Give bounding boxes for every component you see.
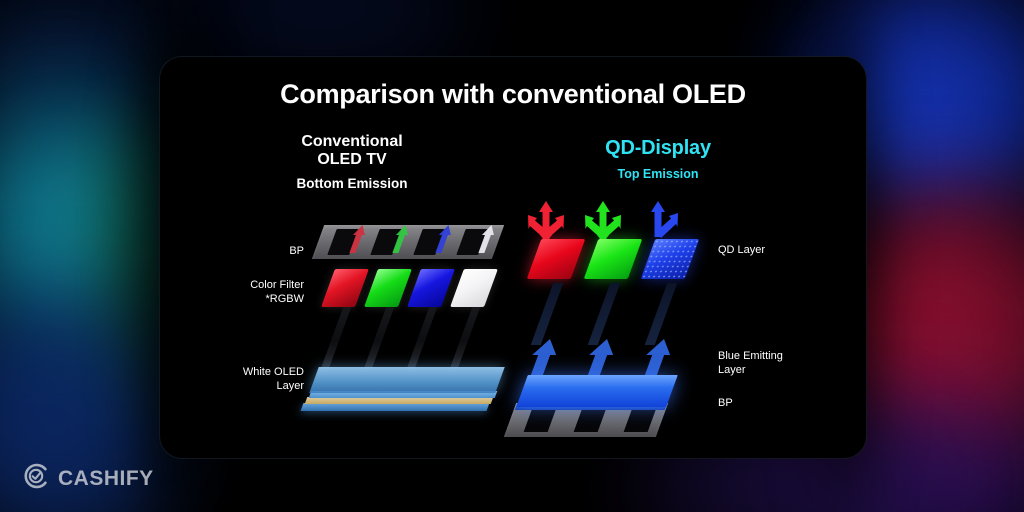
bp-emission-arrows-left (310, 221, 510, 261)
label-bp-right: BP (718, 397, 858, 411)
light-beam (321, 307, 352, 369)
qd-display-diagram (520, 197, 710, 452)
color-filter-green (364, 269, 412, 307)
label-color-filter-line1: Color Filter (250, 279, 304, 291)
light-beam (364, 307, 395, 369)
label-bp-left: BP (184, 245, 304, 259)
white-oled-gold-layer (305, 397, 494, 404)
conventional-heading-line1: Conventional (301, 133, 402, 150)
qd-display-subheading: Top Emission (518, 167, 798, 181)
light-beam (407, 307, 438, 369)
color-filter-white (450, 269, 498, 307)
white-oled-stack (314, 367, 504, 413)
screenshot-stage: Comparison with conventional OLED Conven… (0, 0, 1024, 512)
label-blue-emitting-layer: Blue Emitting Layer (718, 350, 858, 377)
column-heading-qd-display: QD-Display Top Emission (518, 137, 798, 181)
label-qd-layer: QD Layer (718, 244, 858, 258)
color-filter-red (321, 269, 369, 307)
color-filter-blue (407, 269, 455, 307)
conventional-oled-diagram (310, 217, 510, 447)
bp-slot (524, 408, 557, 432)
cashify-wordmark: CASHIFY (58, 467, 154, 491)
label-color-filter-line2: *RGBW (266, 293, 305, 305)
white-oled-top-layer (309, 367, 504, 393)
cashify-watermark: CASHIFY (22, 462, 154, 495)
cashify-check-logo-icon (22, 462, 50, 495)
column-heading-conventional: Conventional OLED TV Bottom Emission (222, 133, 482, 191)
bp-slot (624, 408, 657, 432)
label-white-oled-line2: Layer (276, 380, 304, 392)
qd-display-heading: QD-Display (518, 137, 798, 160)
white-oled-bottom-layer (301, 403, 490, 411)
label-white-oled-layer: White OLED Layer (184, 366, 304, 393)
comparison-card: Comparison with conventional OLED Conven… (160, 57, 866, 458)
label-blue-emitting-line2: Layer (718, 364, 746, 376)
conventional-heading-line2: OLED TV (317, 151, 386, 168)
label-white-oled-line1: White OLED (243, 366, 304, 378)
blue-emitting-layer (516, 375, 678, 407)
light-beam (531, 283, 564, 345)
light-beam (645, 283, 678, 345)
blue-emission-arrows (520, 339, 710, 379)
label-color-filter: Color Filter *RGBW (184, 279, 304, 306)
light-beam (588, 283, 621, 345)
page-title: Comparison with conventional OLED (160, 79, 866, 110)
label-blue-emitting-line1: Blue Emitting (718, 350, 783, 362)
bp-slot (574, 408, 607, 432)
light-beam (450, 307, 481, 369)
conventional-subheading: Bottom Emission (222, 176, 482, 191)
